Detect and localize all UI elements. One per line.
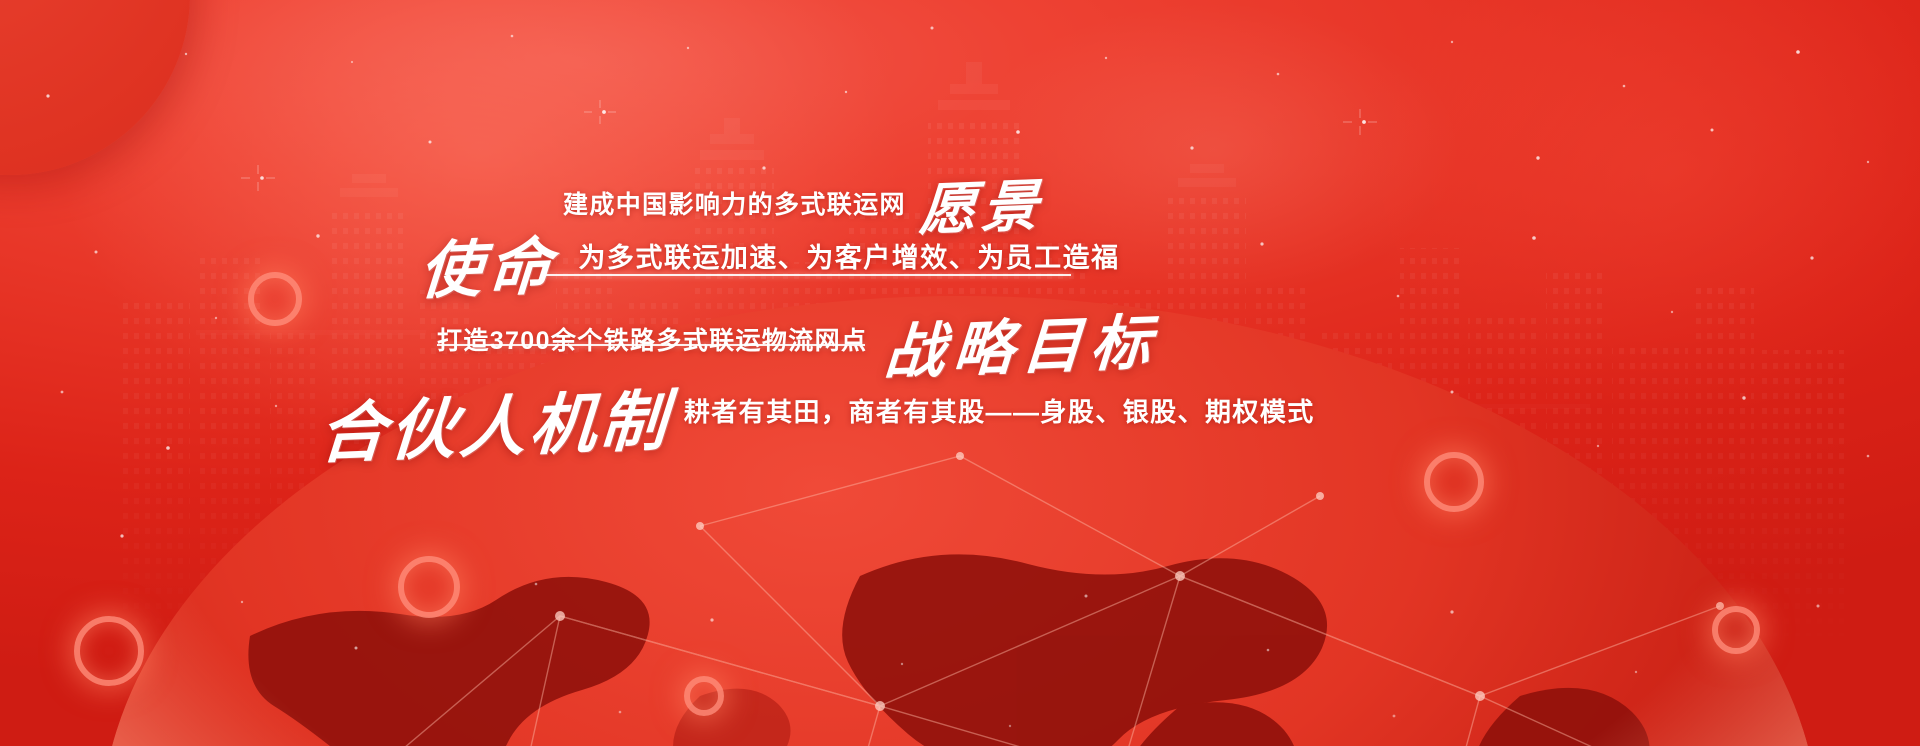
slogan-content: 建成中国影响力的多式联运网 愿景 使命 为多式联运加速、为客户增效、为员工造福 … xyxy=(0,0,1920,746)
strategic-goal-underline xyxy=(437,344,865,346)
row-strategic-goal: 打造3700余个铁路多式联运物流网点 战略目标 xyxy=(437,300,1159,357)
mission-body-text: 为多式联运加速、为客户增效、为员工造福 xyxy=(578,236,1119,275)
partner-mechanism-label: 合伙人机制 xyxy=(317,389,672,465)
mission-underline xyxy=(543,274,1071,276)
row-mission: 使命 为多式联运加速、为客户增效、为员工造福 xyxy=(420,218,1120,277)
partner-mechanism-body-text: 耕者有其田，商者有其股——身股、银股、期权模式 xyxy=(684,392,1315,429)
strategic-goal-body-text: 打造3700余个铁路多式联运物流网点 xyxy=(437,321,867,357)
row-vision: 建成中国影响力的多式联运网 愿景 xyxy=(563,168,1043,221)
banner-hero: 建成中国影响力的多式联运网 愿景 使命 为多式联运加速、为客户增效、为员工造福 … xyxy=(0,0,1920,746)
mission-label: 使命 xyxy=(418,237,559,301)
vision-body-text: 建成中国影响力的多式联运网 xyxy=(563,185,906,221)
row-partner-mechanism: 合伙人机制 耕者有其田，商者有其股——身股、银股、期权模式 xyxy=(320,366,1315,429)
